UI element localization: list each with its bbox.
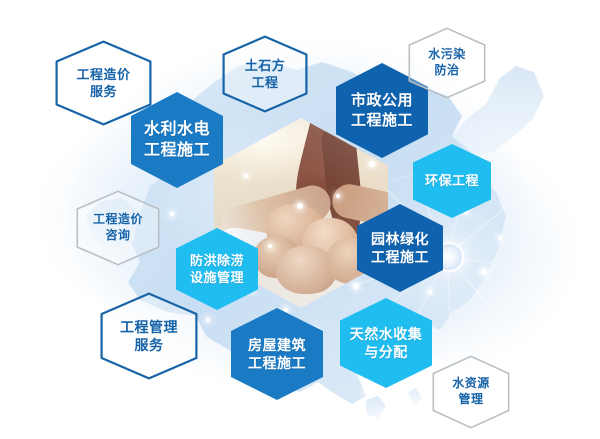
hexagon-label: 工程造价 咨询 [93, 212, 143, 244]
decorative-dot [336, 194, 340, 198]
infographic-canvas: 工程造价 服务土石方 工程水利水电 工程施工市政公用 工程施工水污染 防治环保工… [0, 0, 600, 439]
decorative-dot [268, 244, 272, 248]
hexagon-label: 水资源 管理 [452, 376, 490, 408]
hexagon-label: 园林绿化 工程施工 [371, 230, 429, 267]
hexagon-label: 工程造价 服务 [76, 66, 130, 100]
hexagon-label: 市政公用 工程施工 [351, 91, 413, 131]
decorative-dot [206, 318, 210, 322]
hexagon-label: 土石方 工程 [245, 57, 286, 91]
hexagon-label: 房屋建筑 工程施工 [248, 336, 306, 373]
hexagon-label: 水污染 防治 [428, 47, 466, 79]
hexagon-fangwu-jianzhu-gongcheng-shigong[interactable]: 房屋建筑 工程施工 [231, 308, 323, 400]
hexagon-yuanlin-lvhua-gongcheng-shigong[interactable]: 园林绿化 工程施工 [357, 204, 443, 292]
hexagon-shuiziyuan-guanli[interactable]: 水资源 管理 [432, 355, 510, 429]
hexagon-label: 防洪除涝 设施管理 [190, 252, 244, 286]
hexagon-shuiwuran-fangzhi[interactable]: 水污染 防治 [408, 27, 486, 99]
decorative-dot [244, 174, 248, 178]
hexagon-label: 工程管理 服务 [120, 318, 178, 355]
hexagon-gongcheng-guanli-fuwu[interactable]: 工程管理 服务 [100, 292, 198, 380]
decorative-dot [170, 212, 174, 216]
hexagon-tushifang-gongcheng[interactable]: 土石方 工程 [222, 35, 308, 113]
hexagon-tianranshui-shouji-yu-fenpei[interactable]: 天然水收集 与分配 [340, 298, 432, 388]
decorative-dot [297, 203, 303, 209]
hexagon-label: 环保工程 [425, 172, 479, 189]
hexagon-label: 天然水收集 与分配 [350, 325, 423, 362]
hexagon-label: 水利水电 工程施工 [144, 119, 210, 161]
hexagon-gongcheng-zaojia-zixun[interactable]: 工程造价 咨询 [76, 190, 160, 266]
decorative-dot [481, 269, 487, 275]
decorative-dot [365, 389, 371, 395]
decorative-dot [369, 161, 375, 167]
decorative-dot [498, 236, 502, 240]
hexagon-shuili-shuidian-gongcheng-shigong[interactable]: 水利水电 工程施工 [131, 92, 223, 188]
